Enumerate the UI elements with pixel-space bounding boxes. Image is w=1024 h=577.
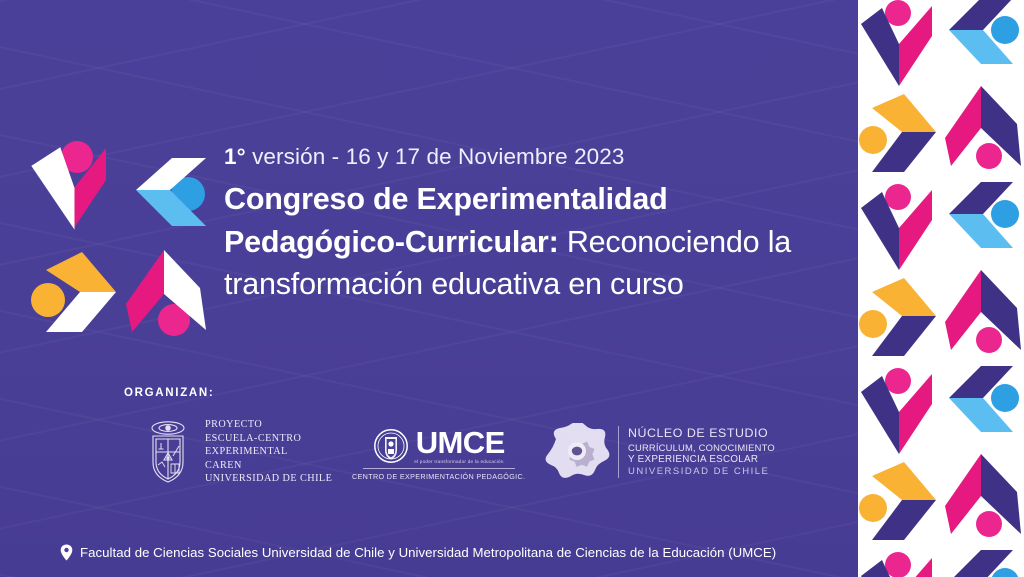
caren-line-2: ESCUELA-CENTRO (205, 432, 332, 446)
location-pin-icon (60, 544, 73, 561)
headline-block: 1° versión - 16 y 17 de Noviembre 2023 C… (224, 143, 824, 306)
umce-seal-icon (373, 428, 409, 464)
kicker-edition: 1° (224, 144, 246, 169)
pattern-tile (858, 460, 941, 552)
venue-text: Facultad de Ciencias Sociales Universida… (80, 545, 776, 560)
umce-wordmark: UMCE (416, 428, 505, 457)
organizer-umce: UMCE el poder transformador de la educac… (352, 428, 525, 481)
nucleo-line-1: NÚCLEO DE ESTUDIO (628, 426, 775, 442)
umce-tagline: el poder transformador de la educación (409, 459, 504, 464)
nucleo-divider (618, 426, 619, 478)
logo-quadrant-bottom-right (122, 244, 210, 336)
poster-canvas: 1° versión - 16 y 17 de Noviembre 2023 C… (0, 0, 1024, 577)
umce-wordmark-group: UMCE el poder transformador de la educac… (409, 428, 505, 463)
universidad-de-chile-shield-icon (140, 419, 196, 485)
caren-line-5: UNIVERSIDAD DE CHILE (205, 472, 332, 486)
logo-quadrant-top-left (30, 140, 118, 232)
logo-quadrant-top-right (122, 146, 210, 238)
caren-line-1: PROYECTO (205, 418, 332, 432)
decorative-pattern-panel (858, 0, 1024, 577)
pattern-tile (858, 0, 941, 92)
pattern-tile (941, 82, 1024, 174)
caren-line-4: CAREN (205, 459, 332, 473)
pattern-tile (858, 92, 941, 184)
kicker-dates: versión - 16 y 17 de Noviembre 2023 (246, 144, 625, 169)
organizers-label: ORGANIZAN: (124, 387, 214, 399)
caren-line-3: EXPERIMENTAL (205, 445, 332, 459)
umce-divider (363, 468, 515, 469)
umce-lockup: UMCE el poder transformador de la educac… (373, 428, 505, 464)
umce-subtitle: CENTRO DE EXPERIMENTACIÓN PEDAGÓGIC. (352, 472, 525, 481)
nucleo-blob-gear-icon (544, 423, 610, 481)
pattern-tile (858, 276, 941, 368)
nucleo-line-4: UNIVERSIDAD DE CHILE (628, 466, 775, 478)
organizer-nucleo: NÚCLEO DE ESTUDIO CURRÍCULUM, CONOCIMIEN… (544, 423, 775, 481)
logo-quadrant-bottom-left (30, 248, 118, 340)
organizers-row: PROYECTO ESCUELA-CENTRO EXPERIMENTAL CAR… (140, 418, 780, 500)
nucleo-text-block: NÚCLEO DE ESTUDIO CURRÍCULUM, CONOCIMIEN… (628, 426, 775, 479)
pattern-tile (858, 552, 941, 577)
venue-footer: Facultad de Ciencias Sociales Universida… (60, 544, 776, 561)
pattern-tile (941, 266, 1024, 358)
page-title: Congreso de Experimentalidad Pedagógico-… (224, 178, 824, 306)
nucleo-line-2: CURRÍCULUM, CONOCIMIENTO (628, 442, 775, 454)
congreso-logo-mark (30, 140, 215, 345)
pattern-tile (941, 542, 1024, 577)
pattern-tile (941, 450, 1024, 542)
caren-text-block: PROYECTO ESCUELA-CENTRO EXPERIMENTAL CAR… (205, 418, 332, 486)
nucleo-line-3: Y EXPERIENCIA ESCOLAR (628, 454, 775, 467)
pattern-tile (858, 184, 941, 276)
pattern-tile (941, 358, 1024, 450)
pattern-tile (941, 174, 1024, 266)
pattern-tile (941, 0, 1024, 82)
organizer-caren: PROYECTO ESCUELA-CENTRO EXPERIMENTAL CAR… (140, 418, 332, 486)
event-kicker: 1° versión - 16 y 17 de Noviembre 2023 (224, 143, 824, 170)
pattern-tile (858, 368, 941, 460)
